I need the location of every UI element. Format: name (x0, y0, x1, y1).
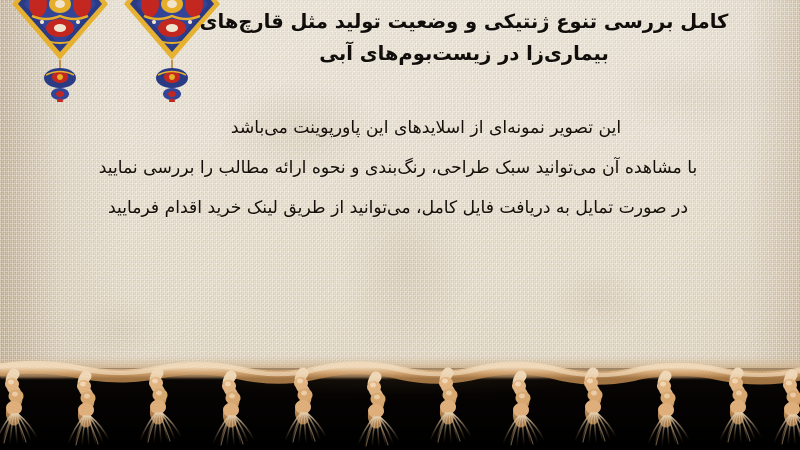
slide-body-text: این تصویر نمونه‌ای از اسلایدهای این پاور… (36, 108, 760, 228)
slide-body-line-1: این تصویر نمونه‌ای از اسلایدهای این پاور… (36, 108, 760, 148)
slide-title-line-2: بیماری‌زا در زیست‌بوم‌های آبی (184, 38, 744, 70)
carpet-bottom-black-band (0, 368, 800, 450)
slide-title-line-1: کامل بررسی تنوع ژنتیکی و وضعیت تولید مثل… (184, 6, 744, 38)
carpet-bottom-edge (0, 356, 800, 378)
presentation-slide: کامل بررسی تنوع ژنتیکی و وضعیت تولید مثل… (0, 0, 800, 450)
slide-body-line-2: با مشاهده آن می‌توانید سبک طراحی، رنگ‌بن… (36, 148, 760, 188)
slide-body-line-3: در صورت تمایل به دریافت فایل کامل، می‌تو… (36, 188, 760, 228)
slide-title: کامل بررسی تنوع ژنتیکی و وضعیت تولید مثل… (184, 6, 744, 69)
